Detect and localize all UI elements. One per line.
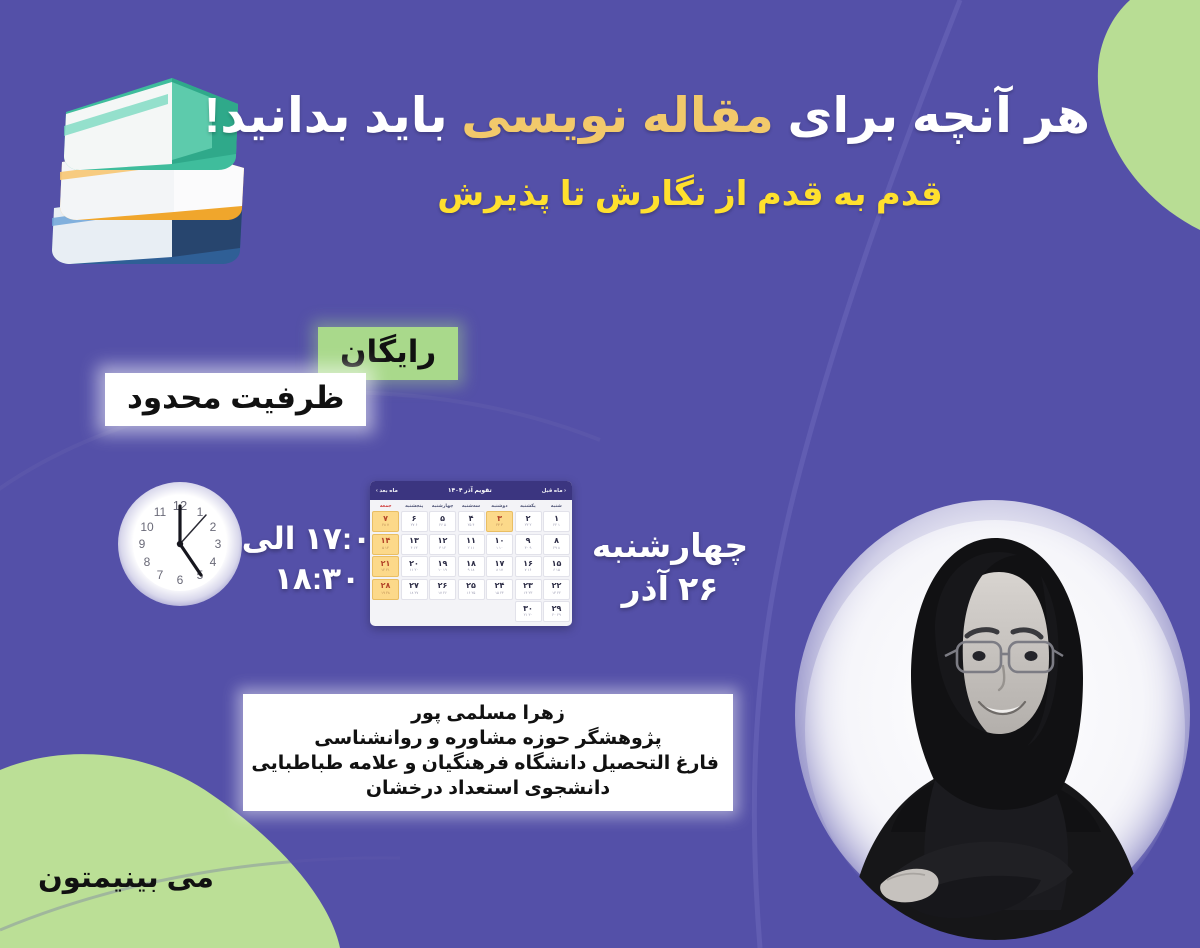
speaker-status: دانشجوی استعداد درخشان [257,776,719,801]
calendar-day-number: ۱۷ [495,560,505,568]
speaker-education: فارغ التحصیل دانشگاه فرهنگیان و علامه طب… [257,751,719,776]
speaker-role: پژوهشگر حوزه مشاوره و روانشناسی [257,726,719,751]
calendar-day-number: ۱۱ [466,537,476,545]
svg-text:4: 4 [210,555,217,569]
calendar-cell-empty [372,601,399,622]
calendar-cell-empty [458,601,485,622]
calendar-day-number: ۹ [526,537,531,545]
calendar-cell[interactable]: ۱۸۱۸ ۹ [458,556,485,577]
calendar-day-number: ۲۹ [552,605,562,613]
calendar-day-number: ۱۴ [381,537,391,545]
svg-text:3: 3 [215,537,222,551]
calendar-cell[interactable]: ۲۸۲۸ ۱۹ [372,579,399,600]
calendar-day-number: ۲۰ [409,560,419,568]
calendar-day-subtext: ۲۱ ۱۲ [381,569,390,573]
subtitle: قدم به قدم از نگارش تا پذیرش [290,174,1090,215]
calendar-cell[interactable]: ۱۷۱۷ ۸ [486,556,513,577]
calendar-day-number: ۱۲ [438,537,448,545]
calendar-weekday-1: یکشنبه [514,503,541,509]
page-title: هر آنچه برای مقاله نویسی باید بدانید! [290,88,1090,146]
calendar-cell[interactable]: ۳۰۳۰ ۲۱ [515,601,542,622]
calendar-day-number: ۲۷ [409,582,419,590]
calendar-day-number: ۲۴ [495,582,505,590]
calendar-day-subtext: ۱۵ ۶ [553,569,560,573]
calendar-day-subtext: ۱۳ ۴ [411,547,418,551]
calendar-cell[interactable]: ۲۳۲۳ ۱۴ [515,579,542,600]
calendar-day-subtext: ۲۳ ۱۴ [524,592,533,596]
calendar-widget[interactable]: ‹ ماه قبل تقویم آذر ۱۴۰۴ ماه بعد › شنبهی… [370,481,572,626]
svg-text:11: 11 [154,505,167,519]
headline-part1: هر آنچه برای [774,89,1090,143]
calendar-day-subtext: ۳۰ ۲۱ [524,614,533,618]
calendar-day-subtext: ۲۶ ۱۷ [438,592,447,596]
calendar-cell[interactable]: ۱۳۱۳ ۴ [401,534,428,555]
analog-clock-icon: 12 1 2 3 4 5 6 7 8 9 10 11 [118,482,242,606]
calendar-day-subtext: ۷ ۲۸ [382,524,389,528]
calendar-day-subtext: ۲۸ ۱۹ [381,592,390,596]
calendar-cell-empty [486,601,513,622]
calendar-cell[interactable]: ۹۹ ۳۰ [515,534,542,555]
calendar-day-subtext: ۱ ۲۲ [553,524,560,528]
calendar-day-subtext: ۲۵ ۱۶ [467,592,476,596]
speaker-info-box: زهرا مسلمی پور پژوهشگر حوزه مشاوره و روا… [243,694,733,811]
headline-block: هر آنچه برای مقاله نویسی باید بدانید! قد… [290,88,1090,215]
calendar-weekday-4: چهارشنبه [429,503,456,509]
calendar-day-subtext: ۲ ۲۳ [525,524,532,528]
calendar-header: ‹ ماه قبل تقویم آذر ۱۴۰۴ ماه بعد › [370,481,572,500]
calendar-title: تقویم آذر ۱۴۰۴ [448,487,492,494]
calendar-day-number: ۳۰ [523,605,533,613]
calendar-cell-empty [429,601,456,622]
speaker-name: زهرا مسلمی پور [257,701,719,726]
calendar-cell[interactable]: ۳۳ ۲۴ [486,511,513,532]
calendar-day-subtext: ۱۹ ۱۰ [438,569,447,573]
event-date-number: ۲۶ آذر [580,568,760,611]
calendar-cell[interactable]: ۱۰۱۰ ۱ [486,534,513,555]
event-date: چهارشنبه ۲۶ آذر [580,525,760,611]
calendar-day-number: ۱۳ [409,537,419,545]
svg-text:1: 1 [197,505,204,519]
calendar-cell[interactable]: ۲۹۲۹ ۲۰ [543,601,570,622]
calendar-day-subtext: ۱۶ ۷ [525,569,532,573]
calendar-day-number: ۴ [469,515,474,523]
calendar-day-number: ۲۸ [381,582,391,590]
calendar-weekday-3: سه‌شنبه [457,503,484,509]
calendar-day-subtext: ۱۰ ۱ [496,547,503,551]
calendar-day-number: ۲۲ [552,582,562,590]
calendar-day-subtext: ۳ ۲۴ [496,524,503,528]
calendar-day-subtext: ۱۴ ۵ [382,547,389,551]
event-time-start: ۱۷:۰۰ الی [244,519,390,559]
calendar-day-subtext: ۲۲ ۱۳ [552,592,561,596]
calendar-day-subtext: ۵ ۲۶ [439,524,446,528]
calendar-day-number: ۲۱ [381,560,391,568]
calendar-weekday-2: دوشنبه [486,503,513,509]
calendar-day-subtext: ۲۹ ۲۰ [552,614,561,618]
headline-part2: باید بدانید! [204,89,461,143]
calendar-next-month-button[interactable]: ماه بعد › [376,488,398,494]
calendar-day-number: ۲۳ [523,582,533,590]
calendar-cell[interactable]: ۲۵۲۵ ۱۶ [458,579,485,600]
calendar-cell[interactable]: ۱۲۱۲ ۳ [429,534,456,555]
calendar-cell[interactable]: ۲۲۲۲ ۱۳ [543,579,570,600]
svg-text:6: 6 [177,573,184,587]
calendar-cell[interactable]: ۸۸ ۲۹ [543,534,570,555]
event-time-end: ۱۸:۳۰ [244,559,390,599]
calendar-day-subtext: ۹ ۳۰ [525,547,532,551]
calendar-day-number: ۲۵ [466,582,476,590]
outro-text: می بینیمتون [38,860,214,895]
calendar-weekday-6: جمعه [372,503,399,509]
calendar-cell[interactable]: ۱۴۱۴ ۵ [372,534,399,555]
calendar-day-number: ۷ [383,515,388,523]
calendar-cell[interactable]: ۱۶۱۶ ۷ [515,556,542,577]
calendar-day-subtext: ۶ ۲۷ [411,524,418,528]
calendar-day-number: ۲۶ [438,582,448,590]
calendar-cell[interactable]: ۷۷ ۲۸ [372,511,399,532]
calendar-day-subtext: ۴ ۲۵ [468,524,475,528]
calendar-cell[interactable]: ۶۶ ۲۷ [401,511,428,532]
calendar-day-subtext: ۱۱ ۲ [468,547,475,551]
event-poster: هر آنچه برای مقاله نویسی باید بدانید! قد… [0,0,1200,948]
calendar-cell[interactable]: ۲۴۲۴ ۱۵ [486,579,513,600]
speaker-portrait [795,480,1195,948]
calendar-day-number: ۱۰ [495,537,505,545]
calendar-day-subtext: ۲۰ ۱۱ [410,569,419,573]
calendar-day-subtext: ۱۲ ۳ [439,547,446,551]
svg-text:2: 2 [210,520,217,534]
svg-text:10: 10 [140,520,154,534]
event-day-name: چهارشنبه [580,525,760,568]
svg-text:7: 7 [157,568,164,582]
calendar-cell[interactable]: ۲۲ ۲۳ [515,511,542,532]
books-stack-icon [22,52,272,282]
calendar-day-number: ۱۸ [466,560,476,568]
calendar-day-number: ۵ [440,515,445,523]
calendar-day-subtext: ۱۸ ۹ [468,569,475,573]
calendar-day-number: ۱ [554,515,559,523]
calendar-cell[interactable]: ۱۱۱۱ ۲ [458,534,485,555]
svg-text:8: 8 [144,555,151,569]
calendar-day-grid[interactable]: ۱۱ ۲۲۲۲ ۲۳۳۳ ۲۴۴۴ ۲۵۵۵ ۲۶۶۶ ۲۷۷۷ ۲۸۸۸ ۲۹… [370,510,572,626]
calendar-day-number: ۶ [412,515,417,523]
calendar-day-number: ۱۵ [552,560,562,568]
calendar-weekday-5: پنجشنبه [400,503,427,509]
calendar-prev-month-button[interactable]: ‹ ماه قبل [542,488,566,494]
calendar-cell[interactable]: ۲۶۲۶ ۱۷ [429,579,456,600]
calendar-cell[interactable]: ۱۵۱۵ ۶ [543,556,570,577]
calendar-weekday-0: شنبه [543,503,570,509]
calendar-day-number: ۲ [526,515,531,523]
calendar-cell[interactable]: ۱۹۱۹ ۱۰ [429,556,456,577]
calendar-cell[interactable]: ۵۵ ۲۶ [429,511,456,532]
calendar-day-number: ۱۹ [438,560,448,568]
event-time: ۱۷:۰۰ الی ۱۸:۳۰ [244,519,390,598]
calendar-cell[interactable]: ۲۰۲۰ ۱۱ [401,556,428,577]
calendar-cell[interactable]: ۲۱۲۱ ۱۲ [372,556,399,577]
calendar-day-number: ۱۶ [523,560,533,568]
svg-text:9: 9 [139,537,146,551]
calendar-cell[interactable]: ۱۱ ۲۲ [543,511,570,532]
headline-accent: مقاله نویسی [461,89,774,143]
calendar-weekday-header: شنبهیکشنبهدوشنبهسه‌شنبهچهارشنبهپنجشنبهجم… [370,500,572,510]
calendar-day-subtext: ۱۷ ۸ [496,569,503,573]
calendar-cell[interactable]: ۲۷۲۷ ۱۸ [401,579,428,600]
calendar-cell-empty [401,601,428,622]
calendar-day-number: ۳ [497,515,502,523]
calendar-cell[interactable]: ۴۴ ۲۵ [458,511,485,532]
calendar-day-subtext: ۸ ۲۹ [553,547,560,551]
calendar-day-subtext: ۲۷ ۱۸ [410,592,419,596]
badge-limited-capacity: ظرفیت محدود [105,373,366,426]
calendar-day-subtext: ۲۴ ۱۵ [495,592,504,596]
calendar-day-number: ۸ [554,537,559,545]
blob-top-right [1098,0,1200,230]
